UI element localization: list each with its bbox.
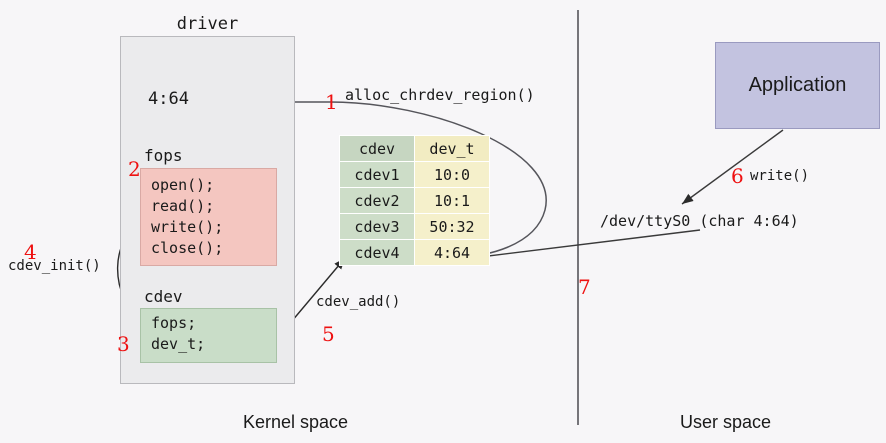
step-number-2: 2 <box>128 157 141 181</box>
cdev-struct-label: cdev <box>144 287 183 306</box>
driver-dev-number: 4:64 <box>148 89 189 109</box>
table-cell-cdev2: cdev2 <box>340 188 415 214</box>
table-cell-cdev3-devt: 50:32 <box>415 214 490 240</box>
fops-entry-open: open(); <box>151 175 276 196</box>
fops-entry-write: write(); <box>151 217 276 238</box>
table-row: cdev2 10:1 <box>340 188 490 214</box>
table-header-devt: dev_t <box>415 136 490 162</box>
step-number-3: 3 <box>117 332 130 356</box>
device-node-label: /dev/ttyS0 (char 4:64) <box>600 212 799 230</box>
fops-entry-close: close(); <box>151 238 276 259</box>
step-number-6: 6 <box>731 164 744 188</box>
kernel-space-label: Kernel space <box>243 412 348 433</box>
label-cdev-init: cdev_init() <box>8 258 101 274</box>
label-write-call: write() <box>750 168 809 184</box>
table-cell-cdev4: cdev4 <box>340 240 415 266</box>
fops-label: fops <box>144 146 183 165</box>
table-row: cdev4 4:64 <box>340 240 490 266</box>
step-number-1: 1 <box>325 90 338 114</box>
cdev-field-devt: dev_t; <box>151 334 276 355</box>
label-cdev-add: cdev_add() <box>316 294 400 310</box>
table-row: cdev1 10:0 <box>340 162 490 188</box>
step-number-5: 5 <box>322 322 335 346</box>
arrow-device-lookup <box>472 230 700 258</box>
driver-title: driver <box>120 14 295 34</box>
application-box: Application <box>715 42 880 129</box>
table-header-row: cdev dev_t <box>340 136 490 162</box>
table-header-cdev: cdev <box>340 136 415 162</box>
diagram-canvas: driver 4:64 fops open(); read(); write()… <box>0 0 886 443</box>
label-alloc-chrdev-region: alloc_chrdev_region() <box>345 86 535 104</box>
user-space-label: User space <box>680 412 771 433</box>
table-row: cdev3 50:32 <box>340 214 490 240</box>
cdev-field-fops: fops; <box>151 313 276 334</box>
fops-entry-read: read(); <box>151 196 276 217</box>
table-cell-cdev1-devt: 10:0 <box>415 162 490 188</box>
table-cell-cdev2-devt: 10:1 <box>415 188 490 214</box>
step-number-4: 4 <box>24 240 37 264</box>
table-cell-cdev4-devt: 4:64 <box>415 240 490 266</box>
fops-box: open(); read(); write(); close(); <box>140 168 277 266</box>
table-cell-cdev1: cdev1 <box>340 162 415 188</box>
table-cell-cdev3: cdev3 <box>340 214 415 240</box>
cdev-registry-table: cdev dev_t cdev1 10:0 cdev2 10:1 cdev3 5… <box>339 135 490 266</box>
step-number-7: 7 <box>578 275 591 299</box>
cdev-struct-box: fops; dev_t; <box>140 308 277 363</box>
